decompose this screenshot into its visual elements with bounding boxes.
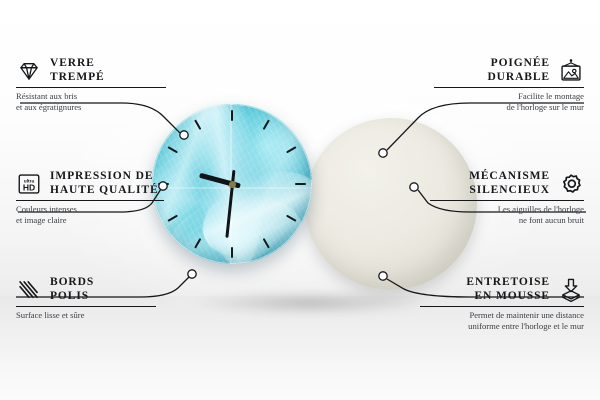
ultra-hd-icon: ultra HD: [16, 171, 42, 197]
polished-edges-icon: [16, 277, 42, 303]
callout-title: IMPRESSION DE HAUTE QUALITÉ: [50, 170, 159, 197]
callout-impression-haute-qualite: ultra HD IMPRESSION DE HAUTE QUALITÉ Cou…: [16, 170, 164, 226]
gear-icon: [558, 171, 584, 197]
callout-verre-trempe: VERRE TREMPÉ Résistant aux bris et aux é…: [16, 57, 166, 113]
connector-dot-6: [379, 272, 387, 280]
svg-text:HD: HD: [23, 182, 35, 192]
connector-dot-3: [188, 270, 196, 278]
callout-title: VERRE TREMPÉ: [50, 57, 105, 84]
callout-header: VERRE TREMPÉ: [16, 57, 166, 84]
callout-rule: [16, 200, 164, 201]
product-feature-infographic: VERRE TREMPÉ Résistant aux bris et aux é…: [0, 0, 600, 400]
callout-poignee-durable: POIGNÉE DURABLE Facilite le montage de l…: [434, 57, 584, 113]
connector-dot-1: [180, 131, 188, 139]
callout-bords-polis: BORDS POLIS Surface lisse et sûre: [16, 276, 156, 321]
connector-dot-5: [410, 183, 418, 191]
picture-hanger-icon: [558, 58, 584, 84]
callout-rule: [430, 200, 584, 201]
callout-header: ultra HD IMPRESSION DE HAUTE QUALITÉ: [16, 170, 164, 197]
callout-header: BORDS POLIS: [16, 276, 156, 303]
callout-rule: [16, 306, 156, 307]
callout-rule: [420, 306, 584, 307]
callout-rule: [434, 87, 584, 88]
foam-spacer-icon: [558, 277, 584, 303]
callout-header: ENTRETOISE EN MOUSSE: [420, 276, 584, 303]
diamond-icon: [16, 58, 42, 84]
callout-title: POIGNÉE DURABLE: [487, 57, 550, 84]
callout-rule: [16, 87, 166, 88]
callout-header: POIGNÉE DURABLE: [434, 57, 584, 84]
callout-mecanisme-silencieux: MÉCANISME SILENCIEUX Les aiguilles de l'…: [430, 170, 584, 226]
callout-entretoise-en-mousse: ENTRETOISE EN MOUSSE Permet de maintenir…: [420, 276, 584, 332]
callout-title: MÉCANISME SILENCIEUX: [469, 170, 550, 197]
callout-title: ENTRETOISE EN MOUSSE: [466, 276, 550, 303]
callout-header: MÉCANISME SILENCIEUX: [430, 170, 584, 197]
callout-title: BORDS POLIS: [50, 276, 94, 303]
connector-dot-4: [379, 149, 387, 157]
